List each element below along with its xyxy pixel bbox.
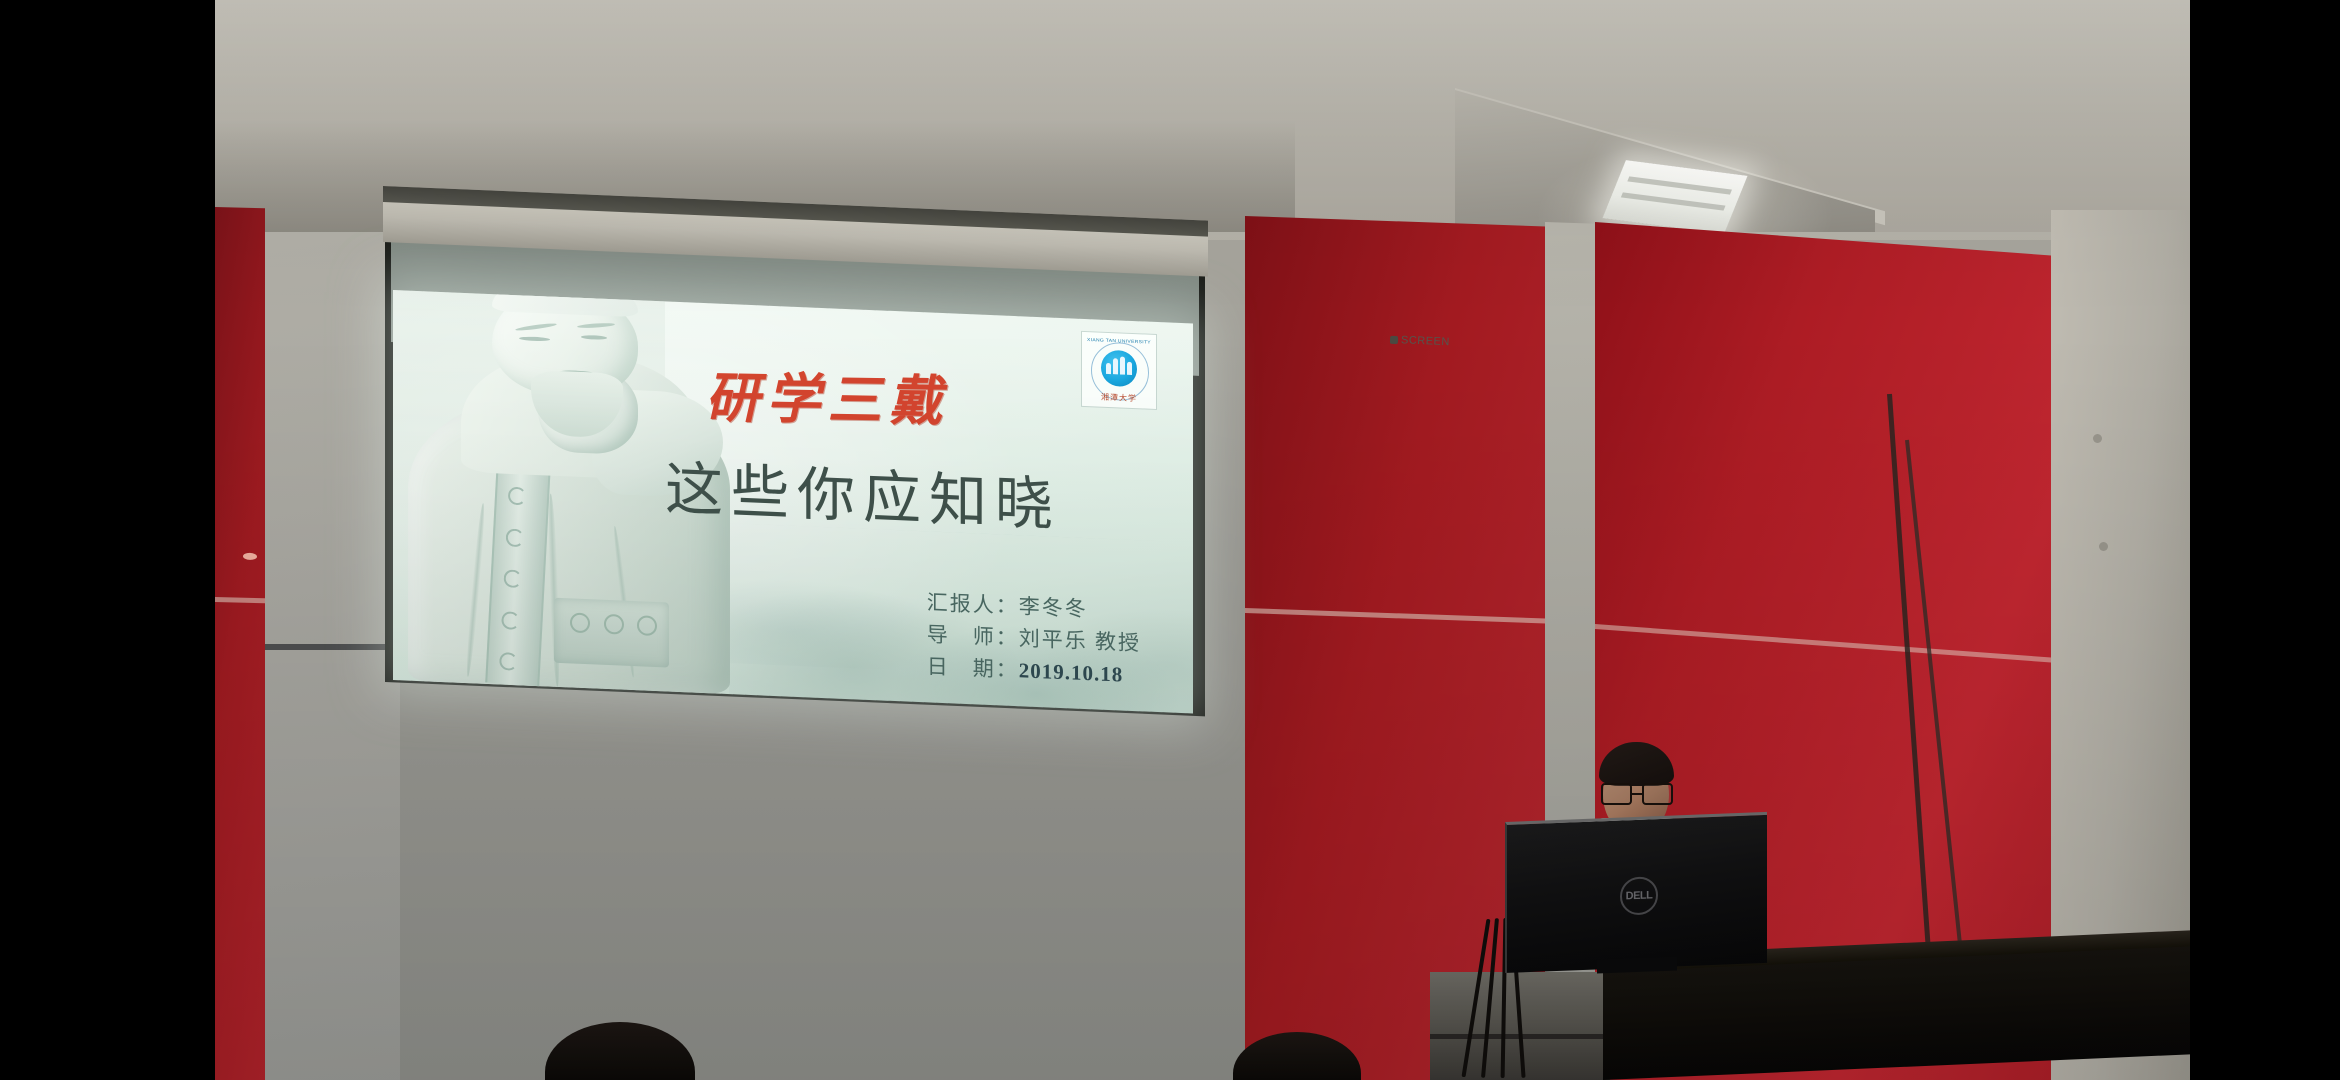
belt-ring-motif bbox=[570, 612, 590, 633]
arch-bar bbox=[1113, 358, 1118, 374]
panel-seam bbox=[1595, 624, 2065, 664]
belt-ring-motif bbox=[604, 614, 624, 635]
logo-chinese-text: 湘潭大学 bbox=[1082, 391, 1156, 405]
brand-dot-icon bbox=[1390, 336, 1398, 344]
glasses-bridge bbox=[1632, 793, 1642, 795]
panel-seam bbox=[215, 597, 265, 603]
wall-mark bbox=[2099, 542, 2108, 551]
robe-fold bbox=[465, 503, 487, 678]
arch-bar bbox=[1120, 356, 1125, 374]
arch-bar bbox=[1127, 361, 1132, 374]
slide-title-primary: 研学三戴 bbox=[704, 353, 950, 436]
dell-logo-icon: DELL bbox=[1620, 876, 1658, 915]
glasses-lens bbox=[1642, 783, 1673, 805]
arch-bar bbox=[1106, 363, 1111, 374]
slide-date-label: 日 期： bbox=[927, 654, 1019, 682]
panel-highlight bbox=[243, 553, 257, 560]
panel-seam bbox=[1245, 608, 1593, 625]
sash-curl-motif bbox=[506, 528, 525, 548]
glasses-lens bbox=[1601, 783, 1632, 805]
logo-arch-glyph bbox=[1106, 356, 1132, 375]
letterbox-right bbox=[2190, 0, 2340, 1080]
screen-housing-label: SCREEN bbox=[1401, 334, 1450, 348]
screen-brand-badge: SCREEN bbox=[1390, 334, 1450, 348]
belt-ring-motif bbox=[637, 615, 657, 636]
light-louver bbox=[1621, 193, 1725, 211]
sash-curl-motif bbox=[499, 652, 518, 672]
glasses-icon bbox=[1601, 784, 1673, 804]
slide-meta-block: 汇报人：李冬冬 导 师：刘平乐 教授 日 期：2019.10.18 bbox=[927, 587, 1141, 692]
screenshot-root: SCREEN bbox=[0, 0, 2340, 1080]
dell-monitor: DELL bbox=[1505, 812, 1767, 973]
letterbox-left bbox=[0, 0, 215, 1080]
projected-slide: 研学三戴 这些你应知晓 汇报人：李冬冬 导 师：刘平乐 教授 日 期：2019.… bbox=[393, 290, 1193, 714]
wall-mark bbox=[2093, 434, 2102, 443]
statue-belt bbox=[554, 598, 669, 668]
xiangtan-university-logo-icon: XIANG TAN UNIVERSITY 湘潭大学 bbox=[1081, 331, 1157, 410]
sash-curl-motif bbox=[501, 611, 520, 631]
gray-wall-panel-left bbox=[265, 232, 400, 1080]
panel-seam bbox=[265, 644, 400, 650]
slide-title-secondary: 这些你应知晓 bbox=[665, 442, 1061, 543]
light-louver bbox=[1628, 176, 1732, 194]
sash-curl-motif bbox=[503, 570, 522, 590]
sash-curl-motif bbox=[508, 487, 527, 507]
slide-date-value: 2019.10.18 bbox=[1019, 658, 1124, 686]
photo-viewport: SCREEN bbox=[215, 0, 2190, 1080]
red-wall-panel-left bbox=[215, 207, 265, 1080]
